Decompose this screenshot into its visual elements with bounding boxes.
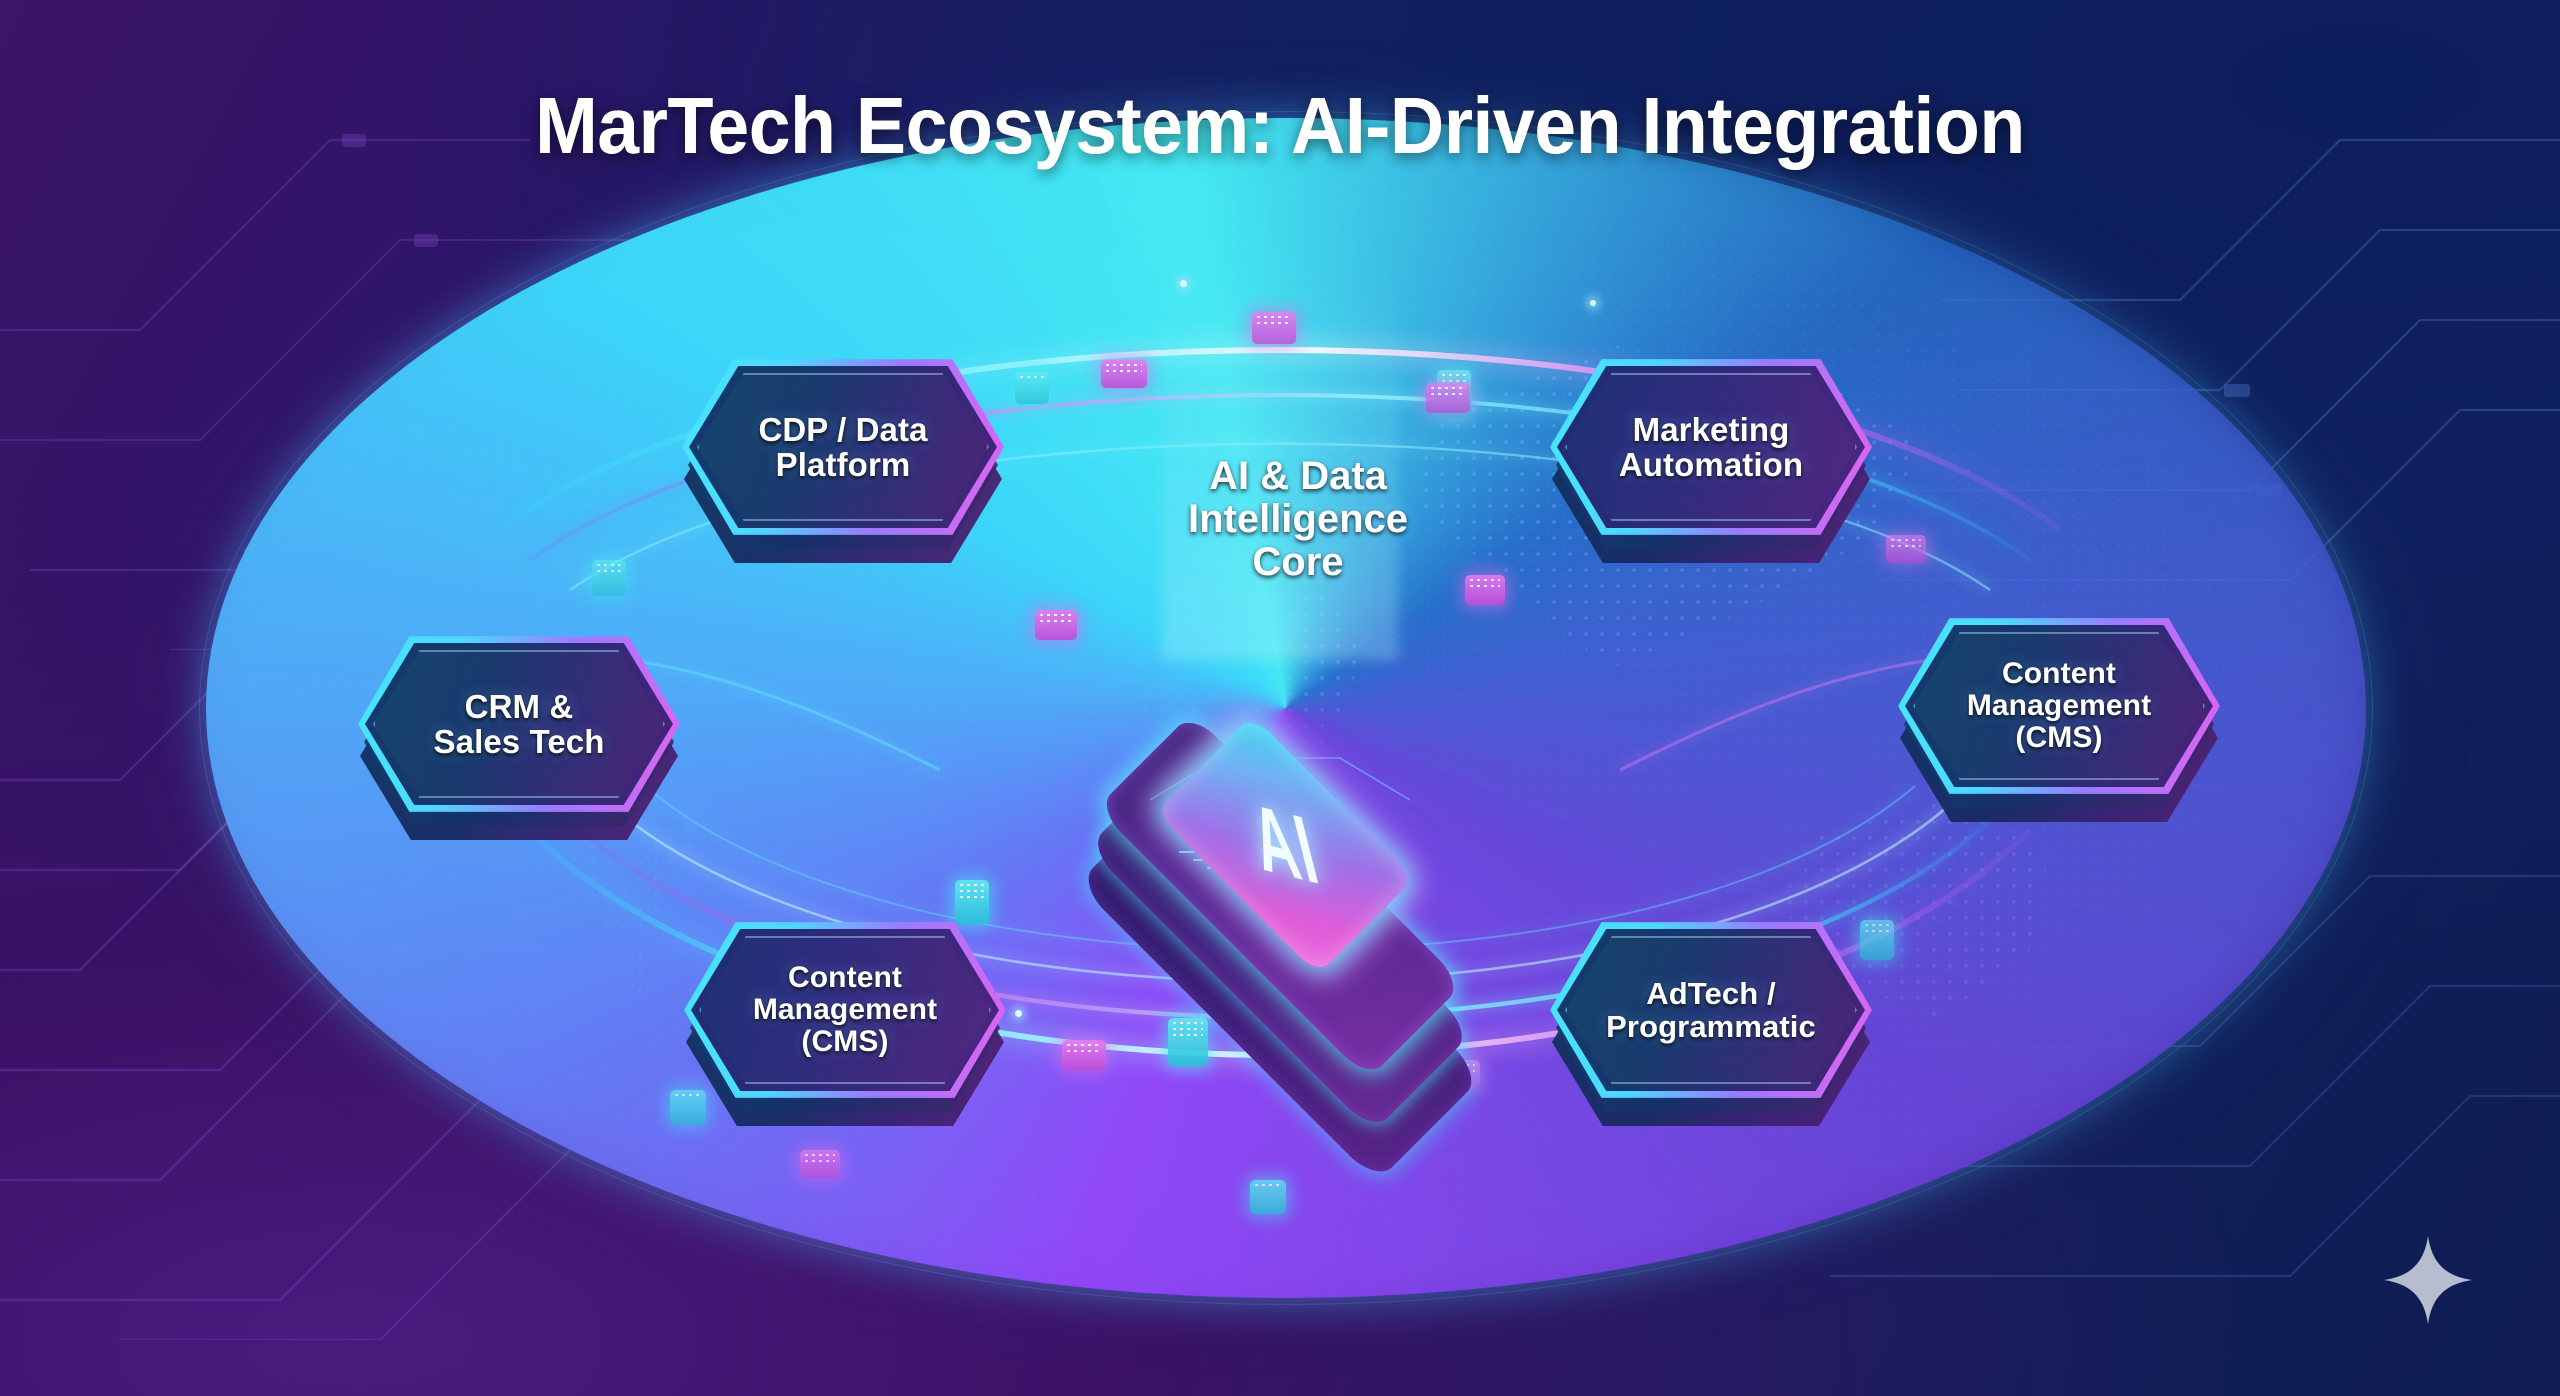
core-label-line3: Core [1148,541,1448,584]
node-content-management-right[interactable]: Content Management (CMS) [1894,614,2224,814]
node-adtech-programmatic[interactable]: AdTech / Programmatic [1546,918,1876,1118]
isometric-ai-processor: AI [930,560,1630,1060]
node-label-line1: CDP / Data [758,412,927,447]
node-label-line1: Marketing [1619,412,1803,447]
sparkle-icon [2380,1232,2476,1328]
node-label-line2: Sales Tech [434,724,605,759]
infographic-canvas: AI AI & Data Intelligence Core MarTech E… [0,0,2560,1396]
node-label: Content Management (CMS) [1913,632,2205,780]
node-label-line3: (CMS) [753,1026,937,1058]
node-label: AdTech / Programmatic [1565,936,1857,1084]
node-label: Content Management (CMS) [699,936,991,1084]
node-label-line2: Platform [758,447,927,482]
node-label-line1: Content [1967,658,2151,690]
node-label-line2: Management [1967,690,2151,722]
node-label: Marketing Automation [1565,373,1857,521]
node-crm-sales-tech[interactable]: CRM & Sales Tech [354,632,684,832]
node-label-line1: CRM & [434,689,605,724]
node-label-line2: Management [753,994,937,1026]
node-content-management-left[interactable]: Content Management (CMS) [680,918,1010,1118]
node-label-line1: Content [753,962,937,994]
node-marketing-automation[interactable]: Marketing Automation [1546,355,1876,555]
node-label: CDP / Data Platform [697,373,989,521]
core-label: AI & Data Intelligence Core [1148,455,1448,585]
core-label-line1: AI & Data [1148,455,1448,498]
node-label-line2: Automation [1619,447,1803,482]
node-label: CRM & Sales Tech [373,650,665,798]
core-label-line2: Intelligence [1148,498,1448,541]
node-label-line2: Programmatic [1606,1010,1816,1043]
node-cdp-data-platform[interactable]: CDP / Data Platform [678,355,1008,555]
node-label-line1: AdTech / [1606,977,1816,1010]
node-label-line3: (CMS) [1967,722,2151,754]
page-title: MarTech Ecosystem: AI-Driven Integration [77,80,2483,172]
